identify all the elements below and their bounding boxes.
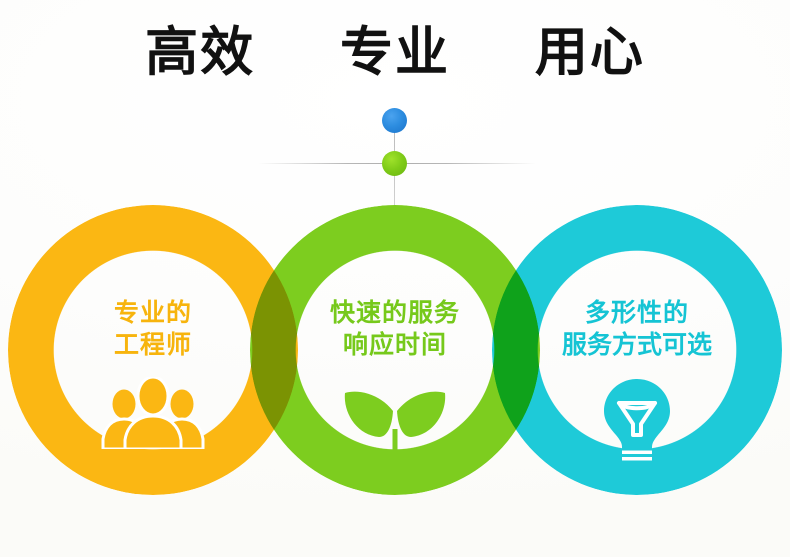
title-segment-1: 高效 [145, 26, 255, 79]
blue-dot-icon [382, 108, 407, 133]
title-segment-3: 用心 [535, 26, 645, 79]
sprout-leaf-icon [339, 377, 451, 459]
title-segment-2: 专业 [340, 26, 450, 79]
service-modes-label: 多形性的 服务方式可选 [492, 297, 782, 361]
page-title: 高效 专业 用心 [0, 26, 790, 79]
service-modes-label-line-2: 服务方式可选 [492, 329, 782, 361]
venn-cell-service-modes[interactable]: 多形性的 服务方式可选 [492, 205, 782, 495]
poster-canvas: 高效 专业 用心 专业的 工程师 [0, 0, 790, 557]
connector-horizontal-line [258, 163, 536, 164]
people-group-icon [99, 377, 207, 453]
lightbulb-icon [594, 377, 680, 465]
service-modes-label-line-1: 多形性的 [492, 297, 782, 329]
green-dot-icon [382, 151, 407, 176]
